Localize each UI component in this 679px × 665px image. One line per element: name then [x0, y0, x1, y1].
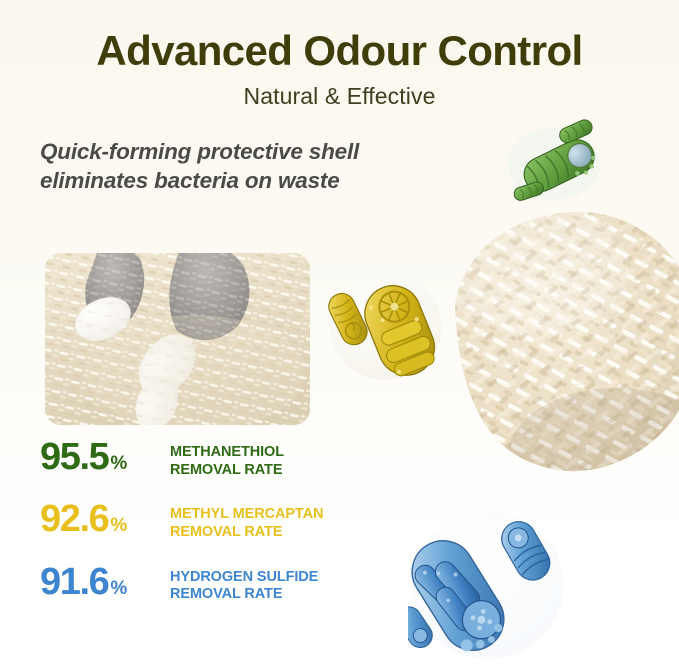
stat-figure: 92.6 % [40, 502, 170, 537]
stat-percent-symbol: % [110, 454, 127, 473]
stat-value: 91.6 [40, 565, 108, 600]
green-bacteria-illustration [498, 112, 608, 212]
stat-label-line1: METHANETHIOL [170, 444, 284, 460]
stat-label: HYDROGEN SULFIDE REMOVAL RATE [170, 565, 318, 604]
stat-label: METHYL MERCAPTAN REMOVAL RATE [170, 502, 323, 541]
page-title: Advanced Odour Control [0, 30, 679, 72]
page-subtitle: Natural & Effective [0, 83, 679, 110]
stat-label-line1: HYDROGEN SULFIDE [170, 569, 318, 585]
stat-value: 95.5 [40, 440, 108, 475]
blue-bacteria-image [408, 497, 576, 665]
header: Advanced Odour Control Natural & Effecti… [0, 0, 679, 110]
stat-percent-symbol: % [110, 579, 127, 598]
stat-label-line2: REMOVAL RATE [170, 524, 323, 542]
cat-paws-image [45, 253, 310, 425]
stat-label: METHANETHIOL REMOVAL RATE [170, 440, 284, 479]
blue-bacteria-illustration [408, 497, 576, 665]
stat-percent-symbol: % [110, 516, 127, 535]
stat-value: 92.6 [40, 502, 108, 537]
cat-paws-photo [45, 253, 310, 425]
yellow-bacteria-image [322, 268, 450, 388]
litter-pile-image [437, 208, 679, 508]
green-bacteria-image [498, 112, 608, 212]
stat-row-hydrogen-sulfide: 91.6 % HYDROGEN SULFIDE REMOVAL RATE [40, 565, 400, 604]
stat-label-line2: REMOVAL RATE [170, 462, 284, 480]
lead-statement: Quick-forming protective shell eliminate… [40, 138, 390, 196]
stat-figure: 95.5 % [40, 440, 170, 475]
stat-row-methyl-mercaptan: 92.6 % METHYL MERCAPTAN REMOVAL RATE [40, 502, 400, 541]
stat-figure: 91.6 % [40, 565, 170, 600]
removal-rate-stats: 95.5 % METHANETHIOL REMOVAL RATE 92.6 % … [40, 440, 400, 627]
stat-label-line2: REMOVAL RATE [170, 586, 318, 604]
poster-canvas: Advanced Odour Control Natural & Effecti… [0, 0, 679, 665]
yellow-bacteria-illustration [322, 268, 450, 388]
tofu-litter-pile [437, 208, 679, 508]
stat-row-methanethiol: 95.5 % METHANETHIOL REMOVAL RATE [40, 440, 400, 479]
stat-label-line1: METHYL MERCAPTAN [170, 506, 323, 522]
